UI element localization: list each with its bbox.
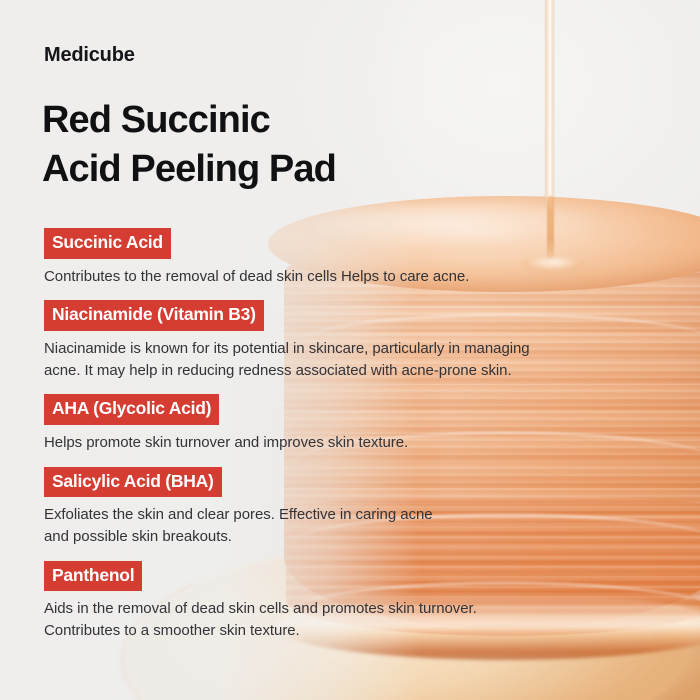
ingredient-item: AHA (Glycolic Acid) Helps promote skin t… bbox=[44, 394, 656, 453]
ingredient-list: Succinic Acid Contributes to the removal… bbox=[44, 228, 656, 655]
ingredient-description: Contributes to the removal of dead skin … bbox=[44, 266, 644, 288]
ingredient-description: Aids in the removal of dead skin cells a… bbox=[44, 598, 644, 642]
ingredient-badge: Niacinamide (Vitamin B3) bbox=[44, 300, 264, 331]
ingredient-item: Salicylic Acid (BHA) Exfoliates the skin… bbox=[44, 467, 656, 548]
product-infographic: Medicube Red Succinic Acid Peeling Pad S… bbox=[0, 0, 700, 700]
ingredient-description: Helps promote skin turnover and improves… bbox=[44, 432, 644, 454]
page-title: Red Succinic Acid Peeling Pad bbox=[42, 96, 336, 193]
ingredient-badge: Succinic Acid bbox=[44, 228, 171, 259]
brand-name: Medicube bbox=[44, 44, 135, 67]
ingredient-badge: AHA (Glycolic Acid) bbox=[44, 394, 219, 425]
ingredient-badge: Panthenol bbox=[44, 561, 142, 592]
ingredient-item: Niacinamide (Vitamin B3) Niacinamide is … bbox=[44, 300, 656, 381]
ingredient-description: Exfoliates the skin and clear pores. Eff… bbox=[44, 504, 644, 548]
ingredient-item: Succinic Acid Contributes to the removal… bbox=[44, 228, 656, 287]
ingredient-description: Niacinamide is known for its potential i… bbox=[44, 338, 644, 382]
ingredient-item: Panthenol Aids in the removal of dead sk… bbox=[44, 561, 656, 642]
ingredient-badge: Salicylic Acid (BHA) bbox=[44, 467, 222, 498]
content-layer: Medicube Red Succinic Acid Peeling Pad S… bbox=[0, 0, 700, 700]
